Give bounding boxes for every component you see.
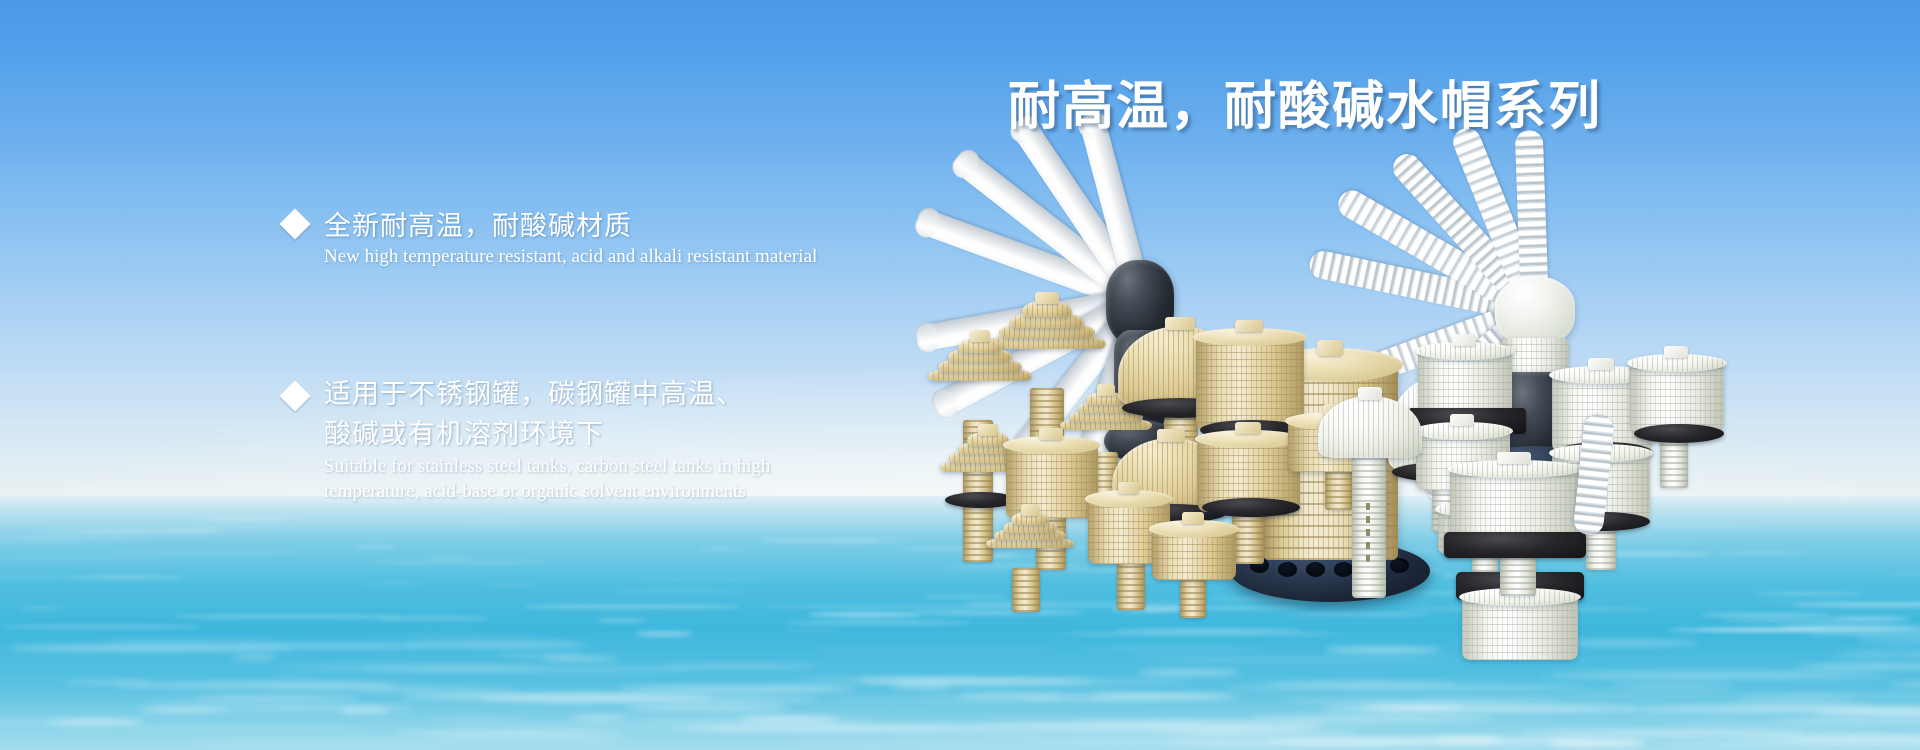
feature-bullet-2: 适用于不锈钢罐，碳钢罐中高温、 酸碱或有机溶剂环境下 Suitable for … <box>284 378 770 504</box>
feature-bullet-1: 全新耐高温，耐酸碱材质 New high temperature resista… <box>284 206 817 269</box>
feature-bullet-2-cn-line1: 适用于不锈钢罐，碳钢罐中高温、 <box>324 379 744 409</box>
feature-bullet-2-row: 适用于不锈钢罐，碳钢罐中高温、 酸碱或有机溶剂环境下 <box>284 378 770 454</box>
page-title: 耐高温，耐酸碱水帽系列 <box>1008 64 1602 139</box>
feature-bullet-1-cn: 全新耐高温，耐酸碱材质 <box>324 206 632 246</box>
product-group <box>0 0 1920 750</box>
promo-banner: 耐高温，耐酸碱水帽系列 全新耐高温，耐酸碱材质 New high tempera… <box>0 0 1920 750</box>
feature-bullet-2-cn-lines: 适用于不锈钢罐，碳钢罐中高温、 酸碱或有机溶剂环境下 <box>324 374 744 454</box>
feature-bullet-1-row: 全新耐高温，耐酸碱材质 <box>284 206 817 246</box>
feature-bullet-1-en: New high temperature resistant, acid and… <box>324 244 817 269</box>
feature-bullet-2-en-line1: Suitable for stainless steel tanks, carb… <box>324 454 770 479</box>
feature-bullet-2-en-line2: temperature, acid-base or organic solven… <box>324 479 770 504</box>
diamond-bullet-icon <box>279 380 310 411</box>
diamond-bullet-icon <box>279 208 310 239</box>
feature-bullet-2-cn-line2: 酸碱或有机溶剂环境下 <box>324 419 604 449</box>
